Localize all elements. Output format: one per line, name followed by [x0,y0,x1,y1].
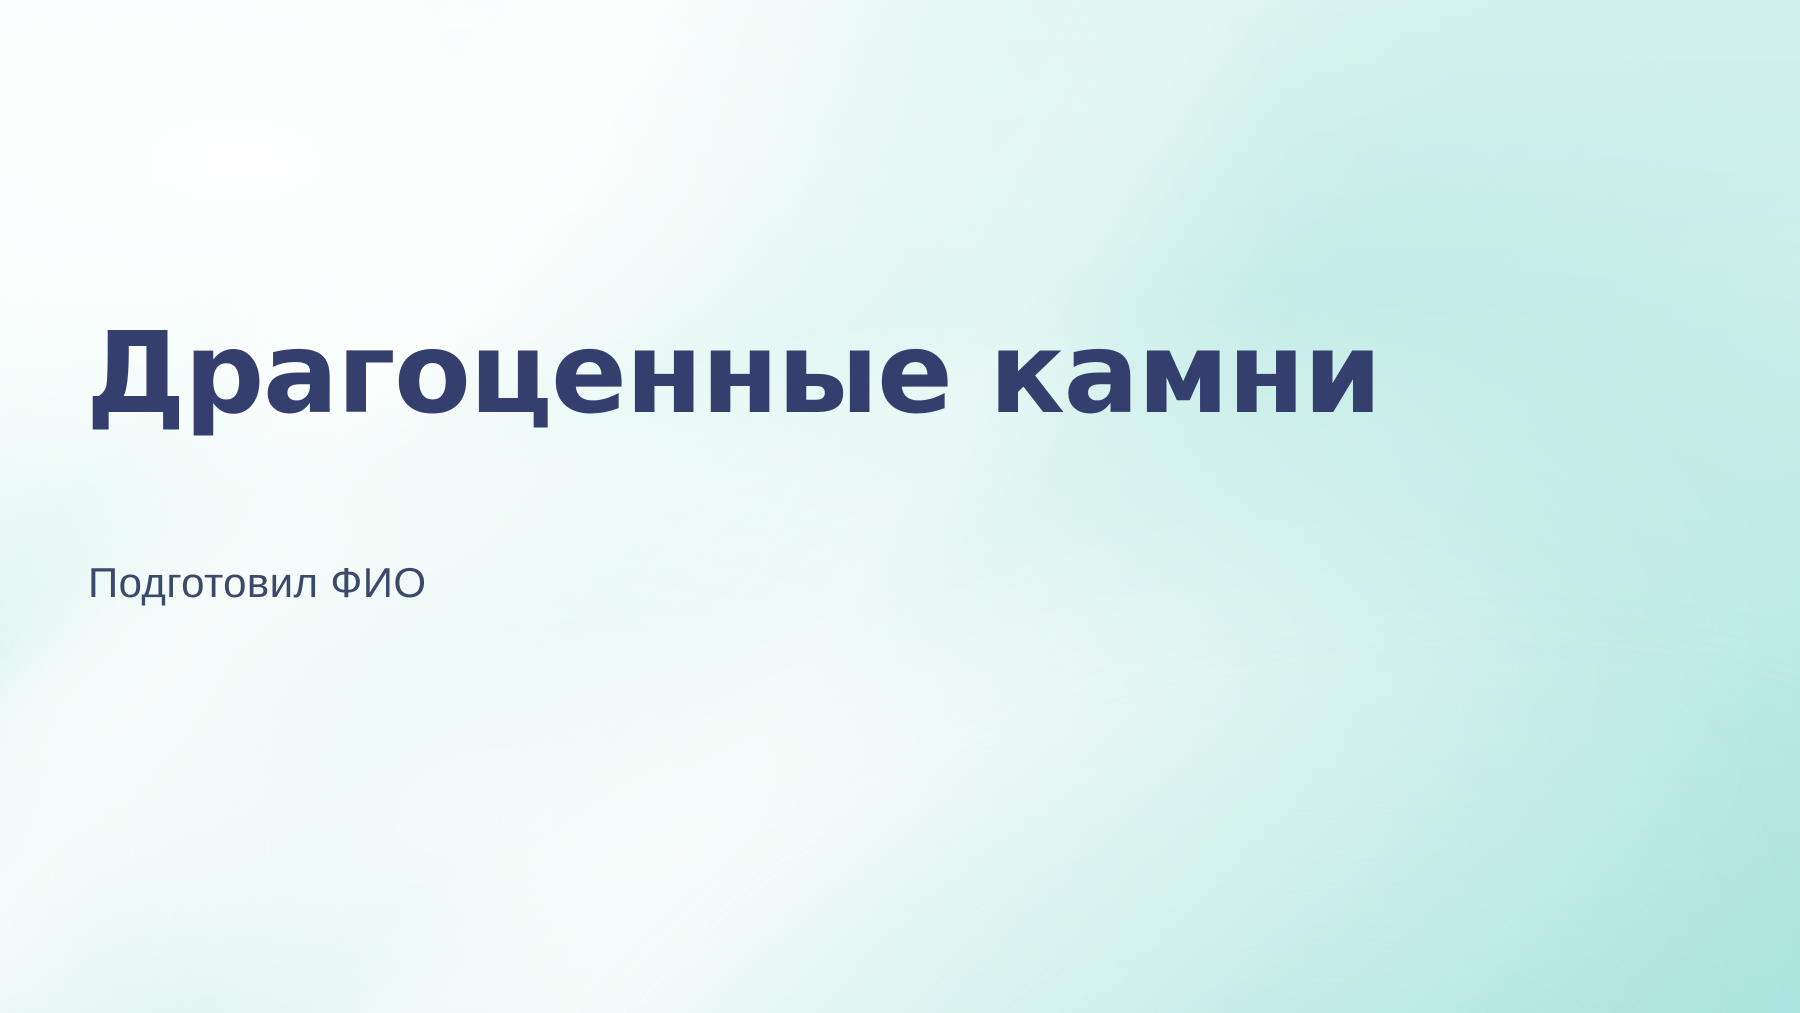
title-slide: Драгоценные камни Подготовил ФИО [0,0,1800,1013]
slide-title: Драгоценные камни [86,318,1380,430]
slide-subtitle-author: Подготовил ФИО [88,562,426,604]
slide-content: Драгоценные камни Подготовил ФИО [86,0,1586,1013]
